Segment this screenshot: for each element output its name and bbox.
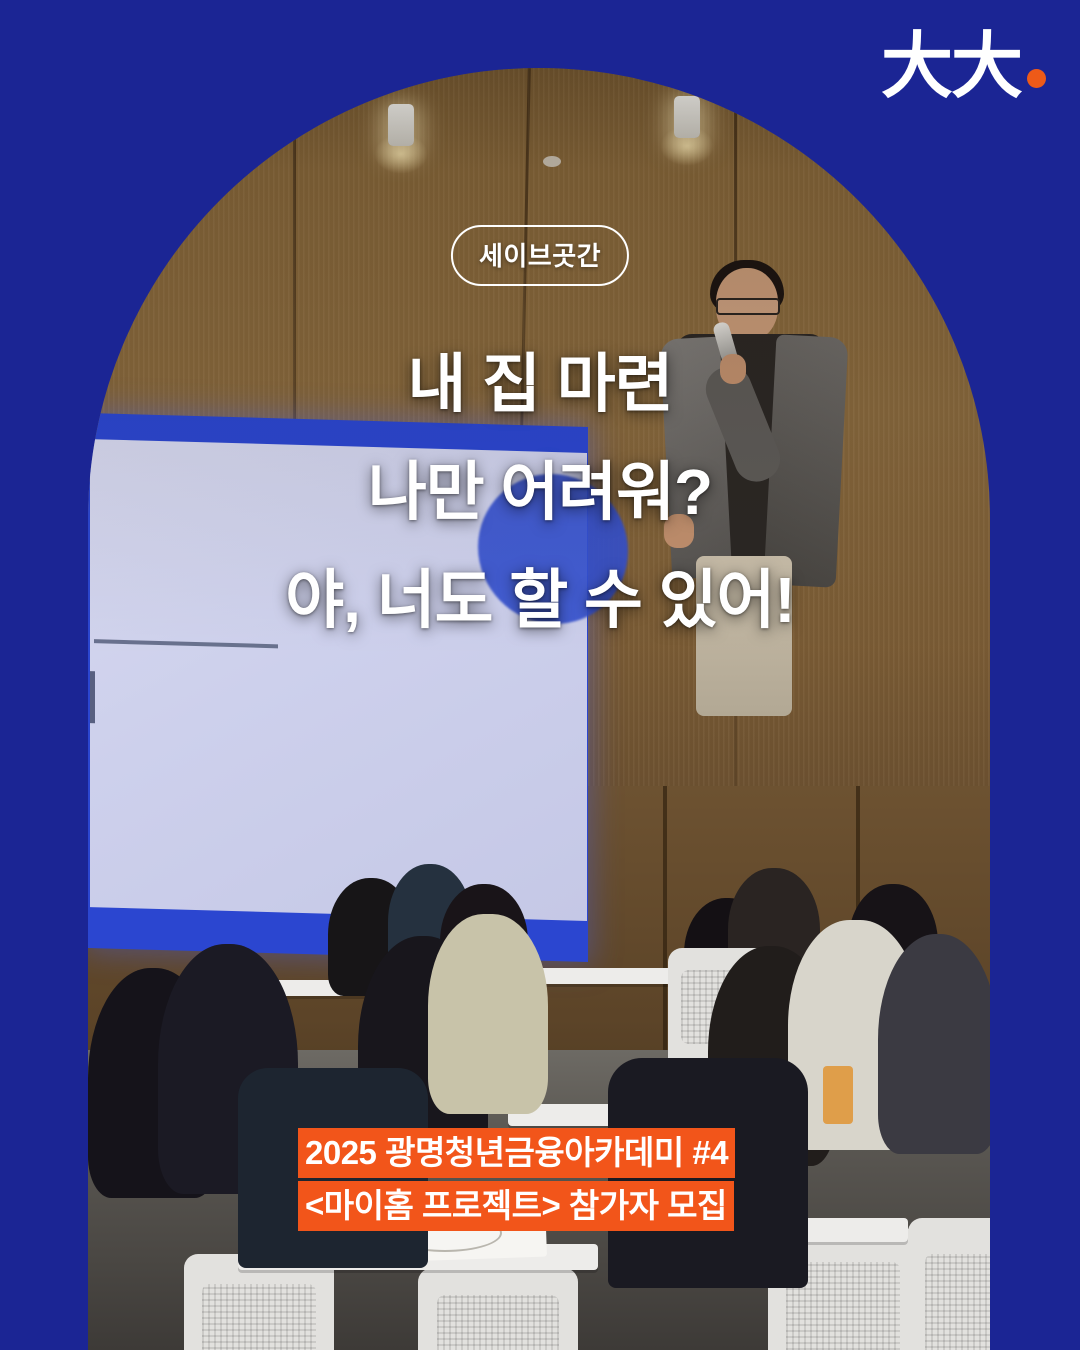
event-title-line: 2025 광명청년금융아카데미 #4 (298, 1128, 735, 1178)
event-subtitle-line: <마이홈 프로젝트> 참가자 모집 (298, 1181, 734, 1231)
brand-logo: 大大 (881, 38, 1046, 94)
category-badge: 세이브곳간 (451, 225, 629, 286)
slide-line (90, 671, 95, 723)
brand-logo-mark: 大大 (881, 38, 1021, 94)
photo-shade-overlay (88, 68, 990, 658)
drink-bottle (823, 1066, 853, 1124)
chair (418, 1268, 578, 1350)
brand-logo-dot-icon (1027, 69, 1046, 88)
attendee-with-cap (428, 914, 548, 1114)
attendee (878, 934, 990, 1154)
event-banner: 2025 광명청년금융아카데미 #4 <마이홈 프로젝트> 참가자 모집 (298, 1128, 735, 1231)
poster-canvas: 大大 (0, 0, 1080, 1350)
chair (908, 1218, 990, 1350)
